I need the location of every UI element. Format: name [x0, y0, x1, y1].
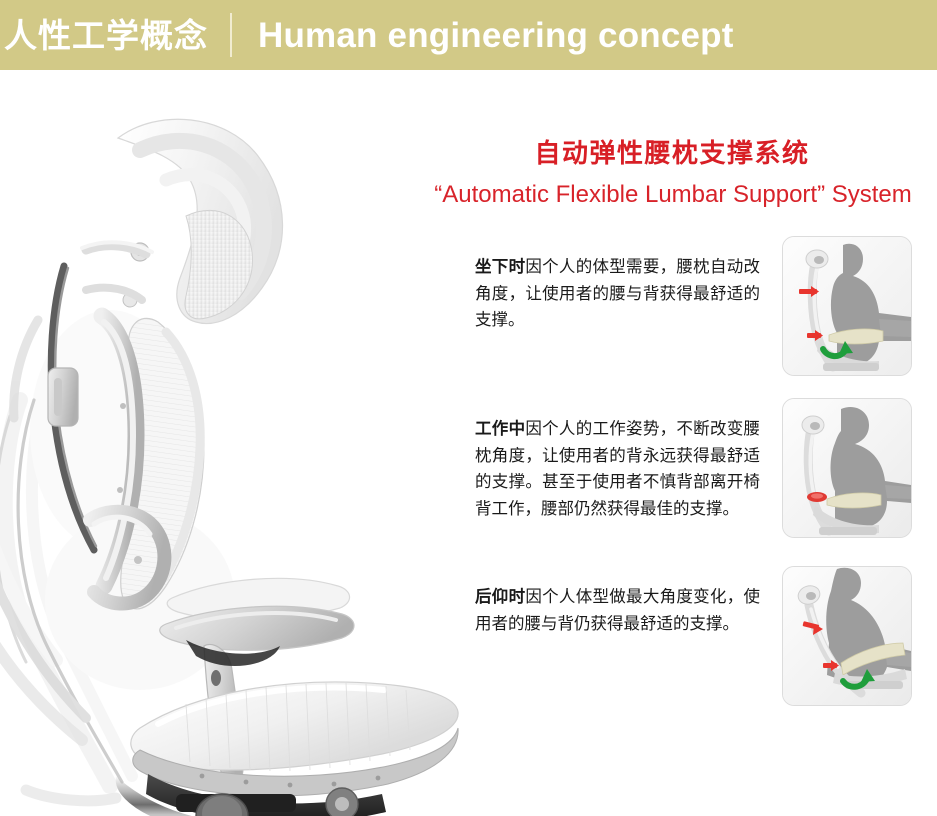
- banner-title-chinese: 人性工学概念: [4, 19, 208, 52]
- feature-item: 坐下时因个人的体型需要，腰枕自动改角度，让使用者的腰与背获得最舒适的支撑。: [475, 236, 937, 376]
- feature-description: 工作中因个人的工作姿势，不断改变腰枕角度，让使用者的背永远获得最舒适的支撑。甚至…: [475, 398, 760, 523]
- feature-thumbnail-seated[interactable]: [782, 236, 912, 376]
- vertical-divider-icon: [230, 13, 232, 57]
- chair-illustration: [0, 100, 460, 816]
- feature-item: 后仰时因个人体型做最大角度变化，使用者的腰与背仍获得最舒适的支撑。: [475, 566, 937, 706]
- feature-description: 后仰时因个人体型做最大角度变化，使用者的腰与背仍获得最舒适的支撑。: [475, 566, 760, 637]
- feature-lead-label: 后仰时: [475, 588, 525, 606]
- working-posture-icon: [783, 399, 911, 537]
- feature-thumbnail-working[interactable]: [782, 398, 912, 538]
- page-header-banner: 人性工学概念 Human engineering concept: [0, 0, 937, 70]
- section-heading-chinese: 自动弹性腰枕支撑系统: [415, 138, 937, 169]
- seated-posture-icon: [783, 237, 911, 375]
- feature-thumbnail-reclined[interactable]: [782, 566, 912, 706]
- reclined-posture-icon: [783, 567, 911, 705]
- feature-list: 坐下时因个人的体型需要，腰枕自动改角度，让使用者的腰与背获得最舒适的支撑。: [415, 236, 937, 706]
- banner-title-english: Human engineering concept: [258, 18, 734, 53]
- feature-item: 工作中因个人的工作姿势，不断改变腰枕角度，让使用者的背永远获得最舒适的支撑。甚至…: [475, 398, 937, 538]
- feature-lead-label: 坐下时: [475, 258, 525, 276]
- feature-lead-label: 工作中: [475, 420, 525, 438]
- red-arrow-icon: [807, 492, 827, 502]
- chair-headrest: [82, 119, 283, 323]
- content-column: 自动弹性腰枕支撑系统 “Automatic Flexible Lumbar Su…: [415, 120, 937, 810]
- feature-description: 坐下时因个人的体型需要，腰枕自动改角度，让使用者的腰与背获得最舒适的支撑。: [475, 236, 760, 334]
- chair-seat: [131, 682, 458, 796]
- product-photo-chair: [0, 100, 460, 816]
- section-heading-english: “Automatic Flexible Lumbar Support” Syst…: [415, 181, 937, 210]
